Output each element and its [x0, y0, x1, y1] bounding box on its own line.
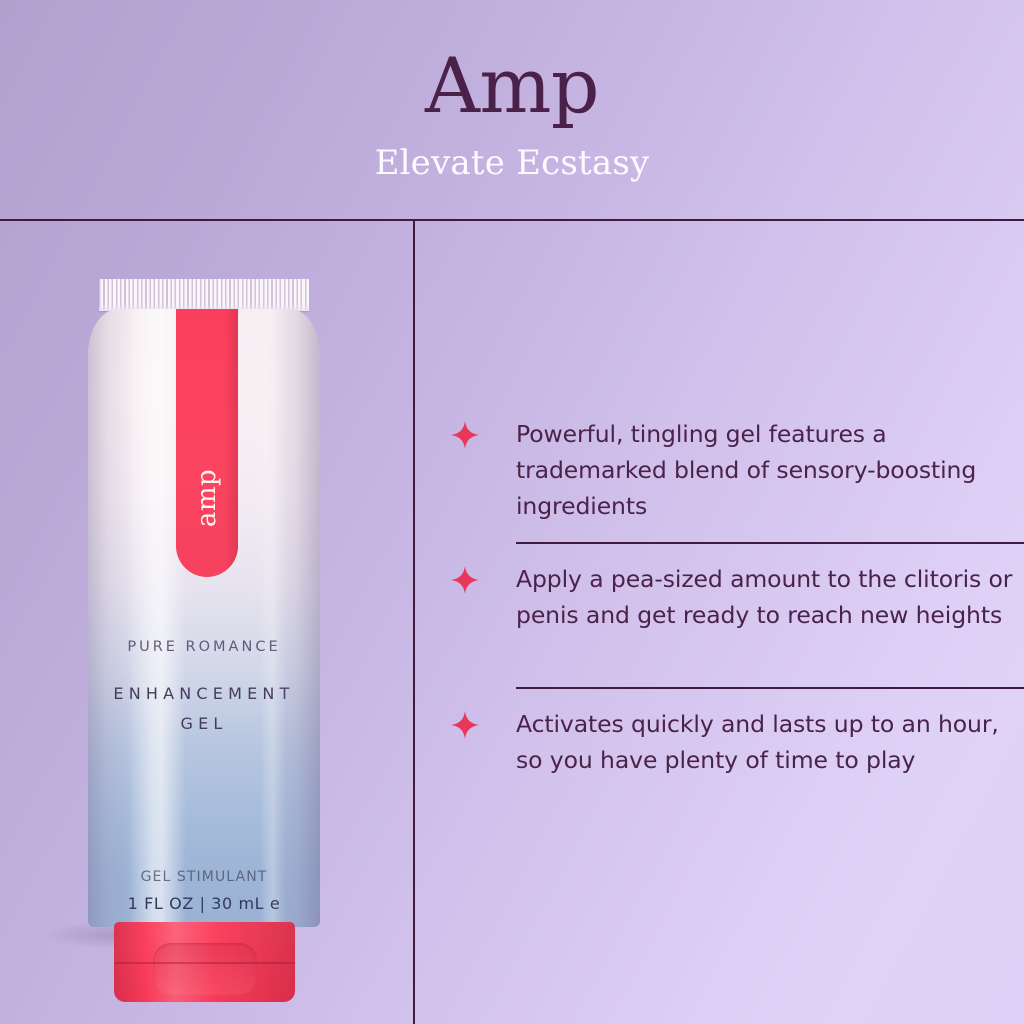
- feature-separator: [516, 687, 1024, 689]
- product-image-panel: amp PURE ROMANCE ENHANCEMENT GEL GEL STI…: [0, 221, 413, 1024]
- product-tube: amp PURE ROMANCE ENHANCEMENT GEL GEL STI…: [88, 279, 320, 1001]
- cap-indent: [153, 943, 257, 995]
- brand-stripe: amp: [176, 309, 238, 577]
- list-item: Powerful, tingling gel features a tradem…: [415, 416, 1024, 524]
- label-descriptor-french: GEL STIMULANT: [88, 869, 320, 885]
- tube-highlight-secondary: [260, 309, 286, 927]
- product-marketing-card: Amp Elevate Ecstasy amp PURE ROMANCE ENH…: [0, 0, 1024, 1024]
- tube-label-primary: PURE ROMANCE ENHANCEMENT GEL: [88, 639, 320, 739]
- list-item: Activates quickly and lasts up to an hou…: [415, 706, 1024, 778]
- cap-seam: [114, 962, 295, 964]
- tube-crimp-seal: [99, 279, 309, 311]
- feature-text: Powerful, tingling gel features a tradem…: [516, 416, 1024, 524]
- feature-text: Activates quickly and lasts up to an hou…: [516, 706, 1024, 778]
- page-subtitle: Elevate Ecstasy: [0, 143, 1024, 183]
- label-product-name-line1: ENHANCEMENT: [88, 679, 320, 709]
- sparkle-icon: [450, 565, 480, 595]
- label-brand-name: PURE ROMANCE: [88, 639, 320, 655]
- sparkle-icon: [450, 420, 480, 450]
- sparkle-icon: [450, 710, 480, 740]
- feature-text: Apply a pea-sized amount to the clitoris…: [516, 561, 1024, 633]
- feature-list: Powerful, tingling gel features a tradem…: [415, 221, 1024, 1024]
- tube-body: amp PURE ROMANCE ENHANCEMENT GEL GEL STI…: [88, 309, 320, 927]
- tube-label-secondary: GEL STIMULANT 1 FL OZ | 30 mL e: [88, 869, 320, 913]
- page-title: Amp: [0, 46, 1024, 126]
- label-product-name-line2: GEL: [88, 709, 320, 739]
- list-item: Apply a pea-sized amount to the clitoris…: [415, 561, 1024, 633]
- brand-logo-amp: amp: [194, 469, 220, 527]
- feature-separator: [516, 542, 1024, 544]
- tube-cap: [114, 922, 295, 1002]
- label-volume: 1 FL OZ | 30 mL e: [88, 894, 320, 913]
- header: Amp Elevate Ecstasy: [0, 0, 1024, 220]
